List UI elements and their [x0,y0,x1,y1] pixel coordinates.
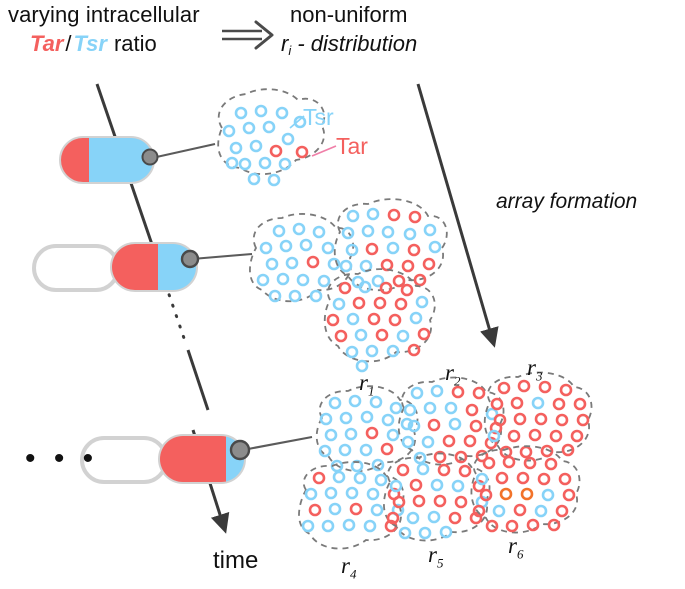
cell-row3 [82,436,249,482]
implies-arrow-icon [222,22,272,48]
cell-row1 [61,138,158,182]
figure-canvas: varying intracellular Tar/Tsrratio non-u… [0,0,685,589]
cluster-label-r6: r6 [508,533,523,563]
cluster-label-r1: r1 [359,370,374,400]
cell-row2 [34,244,198,290]
cluster-label-r2: r2 [445,360,460,390]
ri-subscript: i [288,43,291,58]
legend-tsr-label: Tsr [303,104,334,131]
connector-lines [152,144,312,449]
diagram-svg [0,0,685,589]
cluster-label-r4: r4 [341,553,356,583]
slash-separator: / [63,31,73,56]
ellipsis-label: • • • [25,444,98,474]
array-formation-label: array formation [496,190,637,214]
pole-dot-icon [143,150,158,165]
legend-tar-label: Tar [336,133,368,160]
cluster-label-r5: r5 [428,542,443,572]
cluster-r5 [384,453,490,540]
cluster-r6 [471,446,579,532]
array-formation-arrow [418,84,492,338]
tar-label: Tar [30,31,63,56]
tsr-label: Tsr [74,31,107,56]
header-left-line2: Tar/Tsrratio [30,31,157,57]
header-right-line1: non-uniform [290,2,407,28]
pole-dot-icon [182,251,198,267]
ratio-word: ratio [107,31,157,56]
time-axis-label: time [213,547,258,575]
distribution-word: - distribution [297,31,417,56]
header-left-line1: varying intracellular [8,2,200,28]
cluster-label-r3: r3 [527,355,542,385]
cluster-r4 [299,462,404,549]
header-right-line2: ri - distribution [281,31,417,58]
pole-dot-icon [231,441,249,459]
cluster-stage2-b [335,199,447,290]
empty-cell [34,246,118,290]
